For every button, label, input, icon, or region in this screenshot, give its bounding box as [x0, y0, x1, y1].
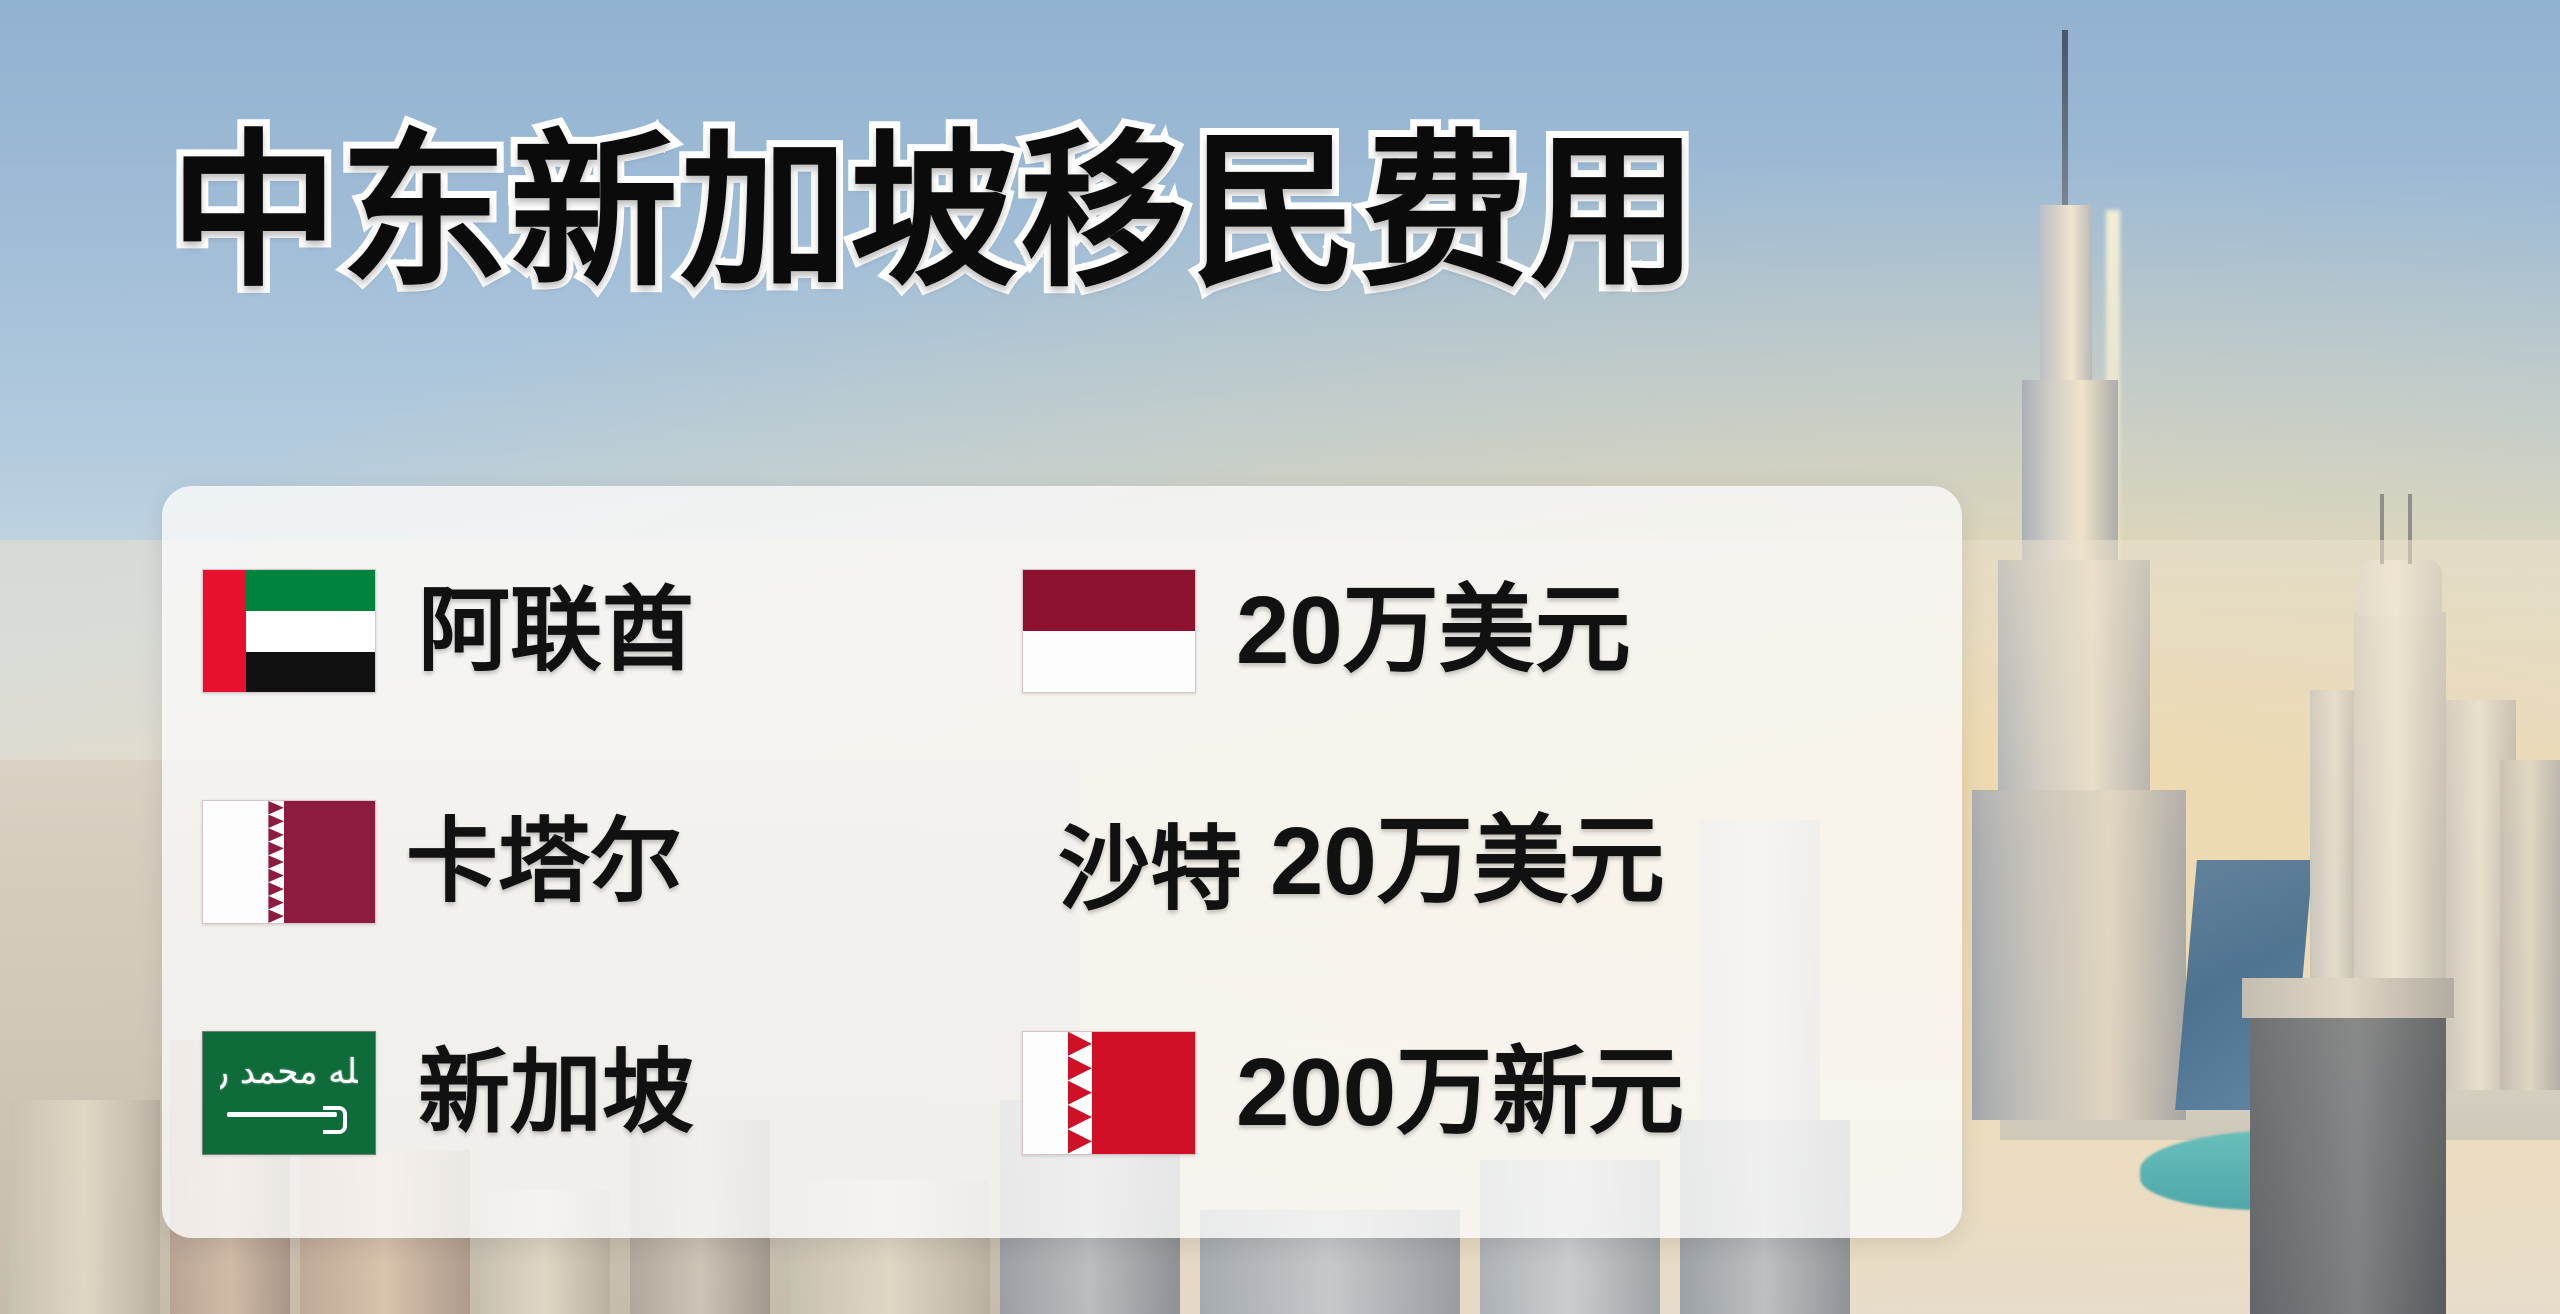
info-card: 阿联酋 20万美元 [162, 486, 1962, 1238]
saudi-arabia-flag-icon: لا إله إلا الله محمد رسول الله [202, 1031, 376, 1155]
qatar-serration-point [268, 801, 283, 815]
bahrain-serration-point [1068, 1105, 1092, 1129]
table-row: لا إله إلا الله محمد رسول الله 新加坡 [202, 995, 1910, 1191]
bahrain-serration-point [1068, 1032, 1092, 1056]
row-2-cost-cell: 沙特 20万美元 [1022, 795, 1910, 928]
saudi-flag-shahada-text: لا إله إلا الله محمد رسول الله [220, 1051, 358, 1092]
row-2-country-label: 卡塔尔 [406, 816, 682, 908]
row-1-country-label: 阿联酋 [418, 585, 694, 677]
qatar-serration-point [268, 815, 283, 829]
uae-flag-green-band [246, 570, 375, 611]
qatar-flag-maroon-fly [268, 801, 375, 923]
qatar-serration-point [268, 896, 283, 910]
qatar-flag-serration [268, 801, 283, 923]
qatar-serration-point [268, 909, 283, 923]
qatar-serration-point [268, 842, 283, 856]
row-3-country-label: 新加坡 [418, 1047, 694, 1139]
page-title: 中东新加坡移民费用 [170, 128, 1700, 296]
row-1-amount: 20万美元 [1236, 583, 1631, 679]
row-2-country-prefix-label: 沙特 [1058, 795, 1242, 928]
uae-flag-black-band [246, 652, 375, 693]
row-3-cost-cell: 200万新元 [1022, 1031, 1910, 1155]
row-3-amount: 200万新元 [1236, 1045, 1684, 1141]
saudi-flag-sword-hilt [323, 1106, 347, 1134]
bahrain-flag-red-fly [1088, 1032, 1195, 1154]
uae-flag-icon [202, 569, 376, 693]
bicolor-flag-white-band [1023, 631, 1195, 692]
bahrain-serration-point [1068, 1129, 1092, 1153]
qatar-flag-icon [202, 800, 376, 924]
row-2-amount-group: 沙特 20万美元 [1058, 795, 1665, 928]
table-row: 阿联酋 20万美元 [202, 533, 1910, 729]
row-3-country-cell: لا إله إلا الله محمد رسول الله 新加坡 [202, 1031, 1022, 1155]
saudi-flag-sword [227, 1112, 337, 1117]
bahrain-serration-point [1068, 1056, 1092, 1080]
row-1-cost-cell: 20万美元 [1022, 569, 1910, 693]
row-2-amount: 20万美元 [1270, 814, 1665, 910]
bicolor-flag-crimson-band [1023, 570, 1195, 631]
bicolor-flag-icon [1022, 569, 1196, 693]
qatar-serration-point [268, 828, 283, 842]
poster-canvas: 中东新加坡移民费用 阿联酋 [0, 0, 2560, 1314]
table-row: 卡塔尔 沙特 20万美元 [202, 764, 1910, 960]
bahrain-serration-point [1068, 1080, 1092, 1104]
uae-flag-white-band [246, 611, 375, 652]
bahrain-flag-icon [1022, 1031, 1196, 1155]
qatar-serration-point [268, 869, 283, 883]
qatar-serration-point [268, 882, 283, 896]
row-2-country-cell: 卡塔尔 [202, 800, 1022, 924]
info-rows: 阿联酋 20万美元 [162, 486, 1962, 1238]
row-1-country-cell: 阿联酋 [202, 569, 1022, 693]
qatar-serration-point [268, 855, 283, 869]
bahrain-flag-serration [1068, 1032, 1092, 1154]
uae-flag-red-hoist [203, 570, 246, 692]
